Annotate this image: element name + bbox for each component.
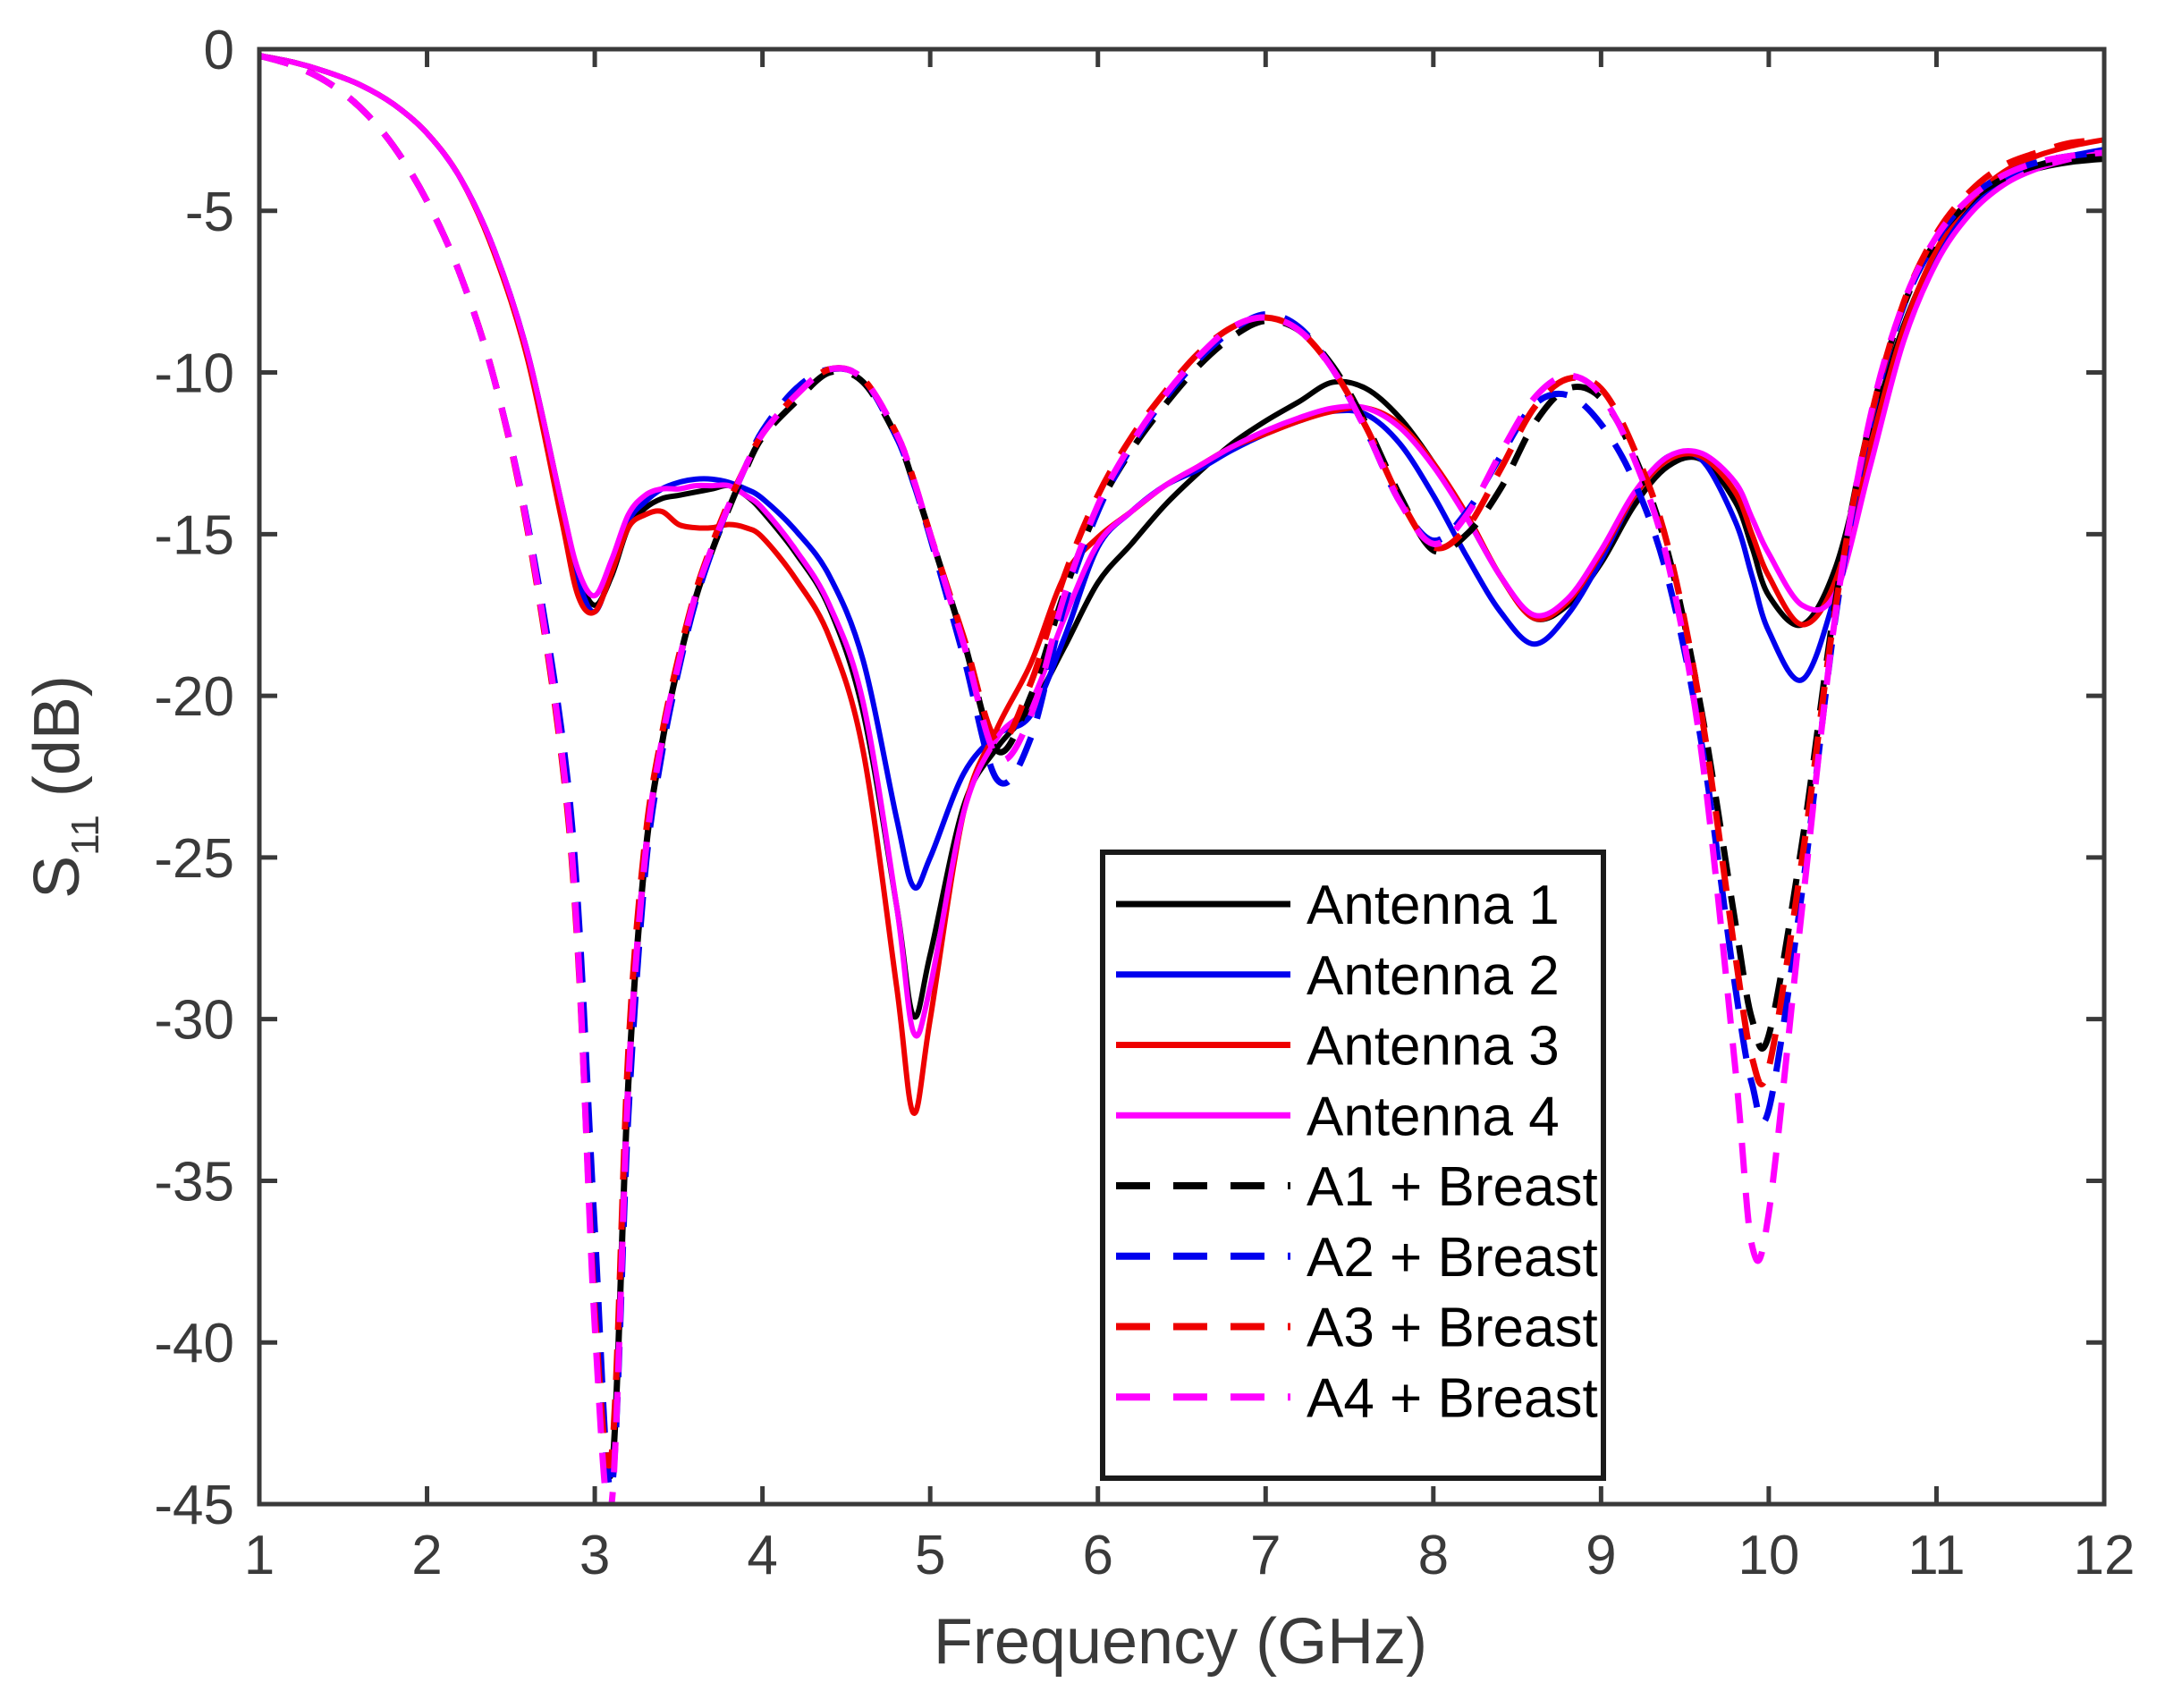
y-tick-label: 0 xyxy=(204,20,234,81)
legend-item-label: A3 + Breast xyxy=(1307,1298,1598,1359)
y-tick-label: -40 xyxy=(154,1313,234,1374)
y-axis-title-subscript: 11 xyxy=(63,815,107,856)
x-tick-label: 6 xyxy=(1082,1525,1112,1586)
legend-item-label: Antenna 2 xyxy=(1307,945,1560,1007)
legend-item-label: A1 + Breast xyxy=(1307,1156,1598,1218)
legend[interactable]: Antenna 1Antenna 2Antenna 3Antenna 4A1 +… xyxy=(1103,852,1603,1478)
x-tick-label: 5 xyxy=(915,1525,945,1586)
y-tick-label: -25 xyxy=(154,828,234,890)
y-tick-label: -10 xyxy=(154,343,234,405)
s11-line-chart: 1234567891011120-5-10-15-20-25-30-35-40-… xyxy=(0,0,2182,1708)
x-tick-label: 7 xyxy=(1250,1525,1281,1586)
x-tick-label: 9 xyxy=(1586,1525,1616,1586)
x-tick-label: 10 xyxy=(1738,1525,1799,1586)
chart-background xyxy=(0,0,2182,1708)
legend-item-label: Antenna 3 xyxy=(1307,1016,1560,1078)
y-tick-label: -20 xyxy=(154,666,234,728)
x-tick-label: 11 xyxy=(1907,1525,1965,1586)
x-tick-label: 12 xyxy=(2074,1525,2135,1586)
y-tick-label: -45 xyxy=(154,1475,234,1536)
x-tick-label: 4 xyxy=(747,1525,777,1586)
x-tick-label: 8 xyxy=(1418,1525,1449,1586)
figure-container: 1234567891011120-5-10-15-20-25-30-35-40-… xyxy=(0,0,2182,1708)
y-axis-title-main: S xyxy=(21,856,93,899)
y-tick-label: -35 xyxy=(154,1151,234,1213)
x-tick-label: 1 xyxy=(244,1525,275,1586)
legend-item-label: A2 + Breast xyxy=(1307,1227,1598,1289)
y-tick-label: -30 xyxy=(154,990,234,1052)
y-axis-title-unit: (dB) xyxy=(21,675,93,815)
y-tick-label: -15 xyxy=(154,504,234,566)
x-tick-label: 2 xyxy=(411,1525,442,1586)
x-tick-label: 3 xyxy=(579,1525,610,1586)
legend-item-label: A4 + Breast xyxy=(1307,1367,1598,1429)
x-axis-title: Frequency (GHz) xyxy=(934,1606,1427,1678)
y-tick-label: -5 xyxy=(185,182,234,243)
legend-item-label: Antenna 1 xyxy=(1307,875,1560,936)
legend-item-label: Antenna 4 xyxy=(1307,1086,1560,1147)
